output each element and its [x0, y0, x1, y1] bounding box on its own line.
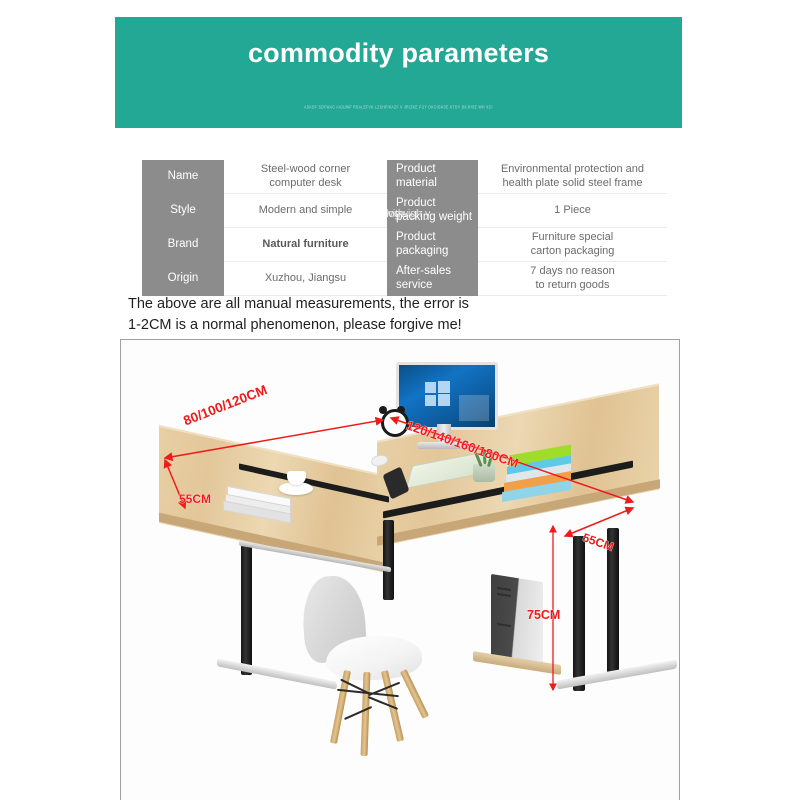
- row-label-origin: Origin: [142, 262, 224, 296]
- desk-illustration: 80/100/120CM 120/140/160/180CM 55CM 55CM…: [121, 340, 677, 800]
- monitor-stand-neck: [437, 424, 451, 444]
- dim-line-right-depth: [565, 508, 633, 536]
- desk-leg: [383, 520, 394, 600]
- chair-leg: [361, 672, 371, 756]
- row-label-after-sales-service: After-sales service: [387, 262, 478, 296]
- note-line-2: 1-2CM is a normal phenomenon, please for…: [128, 315, 598, 336]
- value-line: Modern and simple: [224, 204, 387, 217]
- desk-leg: [241, 545, 252, 675]
- banner-subtitle: ASKDF SDFWAC AIGUWF RSALEFVK LZSHFIKAZF …: [115, 105, 682, 110]
- row-value-style: Modern and simple: [224, 194, 387, 228]
- label-line: service: [396, 279, 432, 291]
- desk-leg: [607, 528, 619, 678]
- value-line: Natural furniture: [224, 238, 387, 251]
- banner-title: commodity parameters: [115, 38, 682, 69]
- value-line: Furniture special: [478, 231, 667, 244]
- row-value-after-sales-service: 7 days no reason to return goods: [478, 262, 667, 296]
- commodity-parameters-table: Name Steel-wood corner computer desk Pro…: [142, 160, 667, 296]
- table-row: Origin Xuzhou, Jiangsu After-sales servi…: [142, 262, 667, 296]
- tower-slot: [497, 623, 511, 627]
- label-line: After-sales: [396, 265, 451, 277]
- row-label-product-packaging: Product packaging: [387, 228, 478, 262]
- row-value-product-material: Environmental protection and health plat…: [478, 160, 667, 194]
- monitor-icon: [396, 362, 498, 430]
- value-line: health plate solid steel frame: [478, 177, 667, 190]
- value-line: Environmental protection and: [478, 163, 667, 176]
- row-label-name: Name: [142, 160, 224, 194]
- row-label-product-material: Product material: [387, 160, 478, 194]
- tower-slot: [497, 587, 511, 591]
- table-row: Name Steel-wood corner computer desk Pro…: [142, 160, 667, 194]
- measurement-note: The above are all manual measurements, t…: [128, 294, 598, 336]
- product-image-panel: 80/100/120CM 120/140/160/180CM 55CM 55CM…: [120, 339, 680, 800]
- value-line: Xuzhou, Jiangsu: [224, 272, 387, 285]
- label-line: packaging: [396, 245, 448, 257]
- row-label-product-packing-weight: Product packing weight: [387, 194, 478, 228]
- plant-pot-icon: [473, 464, 495, 482]
- row-value-brand: Natural furniture: [224, 228, 387, 262]
- commodity-parameters-banner: commodity parameters ASKDF SDFWAC AIGUWF…: [115, 17, 682, 128]
- row-label-brand: Brand: [142, 228, 224, 262]
- product-image: 80/100/120CM 120/140/160/180CM 55CM 55CM…: [121, 340, 679, 800]
- row-value-product-packing-weight: 1 Piece: [478, 194, 667, 228]
- desk-leg: [573, 536, 585, 691]
- pc-tower-icon: [491, 574, 543, 664]
- value-line: 1 Piece: [478, 204, 667, 217]
- clock-face: [381, 409, 409, 437]
- row-value-product-packaging: Furniture special carton packaging: [478, 228, 667, 262]
- value-line: computer desk: [224, 177, 387, 190]
- alarm-clock-icon: [379, 406, 405, 432]
- value-line: Steel-wood corner: [224, 163, 387, 176]
- row-label-style: Style: [142, 194, 224, 228]
- row-value-name: Steel-wood corner computer desk: [224, 160, 387, 194]
- value-line: carton packaging: [478, 245, 667, 258]
- value-line: to return goods: [478, 279, 667, 292]
- table-row: Brand Natural furniture Product packagin…: [142, 228, 667, 262]
- chair-leg: [400, 669, 429, 719]
- tower-slot: [497, 593, 511, 597]
- table-row: Style Modern and simple Product packing …: [142, 194, 667, 228]
- windows-logo-icon: [425, 381, 451, 407]
- row-value-origin: Xuzhou, Jiangsu: [224, 262, 387, 296]
- label-line: Product: [396, 163, 436, 175]
- desk-foot: [217, 658, 337, 689]
- label-line: Product: [396, 197, 436, 209]
- desktop-window-tile: [459, 395, 489, 421]
- monitor-stand-base: [417, 442, 473, 449]
- dim-label-left-length: 80/100/120CM: [181, 382, 269, 428]
- label-line: packing weight: [396, 211, 472, 223]
- note-line-1: The above are all manual measurements, t…: [128, 294, 598, 315]
- label-line: Product: [396, 231, 436, 243]
- product-detail-page: commodity parameters ASKDF SDFWAC AIGUWF…: [0, 0, 800, 800]
- value-line: 7 days no reason: [478, 265, 667, 278]
- label-line: material: [396, 177, 437, 189]
